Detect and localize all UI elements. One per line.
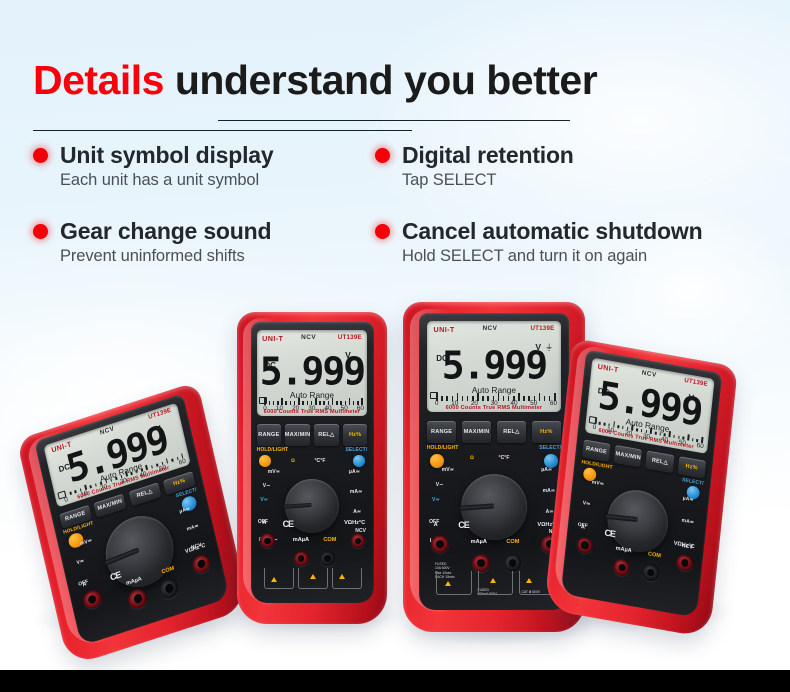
maxmin-button[interactable]: MAX/MIN: [462, 421, 492, 443]
feature-item-unit-symbol-display: Unit symbol display Each unit has a unit…: [33, 142, 273, 190]
input-jack-com[interactable]: [504, 554, 522, 572]
input-jack-a[interactable]: [82, 587, 104, 611]
jack-frame: [436, 571, 472, 595]
input-jack-vohm[interactable]: [676, 553, 694, 572]
dial-label-v-dc: V≃: [432, 497, 440, 503]
jack-label-com: COM: [161, 566, 175, 576]
device-face: UNI-T NCV UT139E DC 5.999 V Auto Range 0…: [251, 322, 374, 603]
feature-title: Unit symbol display: [60, 142, 273, 169]
dial-label-ohm: Ω: [470, 455, 474, 461]
feature-heading: Unit symbol display: [33, 142, 273, 169]
input-jack-a[interactable]: [431, 535, 449, 553]
jack-frame: [264, 568, 293, 589]
dial-pointer: [284, 503, 312, 509]
feature-subtitle: Prevent uninformed shifts: [60, 247, 271, 266]
lcd-footer-text: 6000 Counts True RMS Multimeter: [264, 409, 361, 415]
lcd-screen: UNI-T NCV UT139E DC 5.999 V ⏚ Auto Range…: [427, 321, 561, 412]
page-title-rest: understand you better: [164, 57, 597, 103]
dial-label-mv: mV≃: [442, 467, 454, 473]
jack-label-com: COM: [506, 539, 519, 545]
dial-label-ua: µA≃: [179, 506, 191, 515]
jack-label-a: A: [434, 522, 438, 528]
dial-label-v-ac: V∼: [263, 483, 271, 489]
divider-lower: [33, 130, 412, 131]
ce-mark: CE: [458, 520, 469, 530]
feature-item-digital-retention: Digital retention Tap SELECT: [375, 142, 574, 190]
ce-mark: CE: [604, 527, 615, 539]
button-sub-labels: HOLD/LIGHT SELECT/: [257, 447, 368, 453]
feature-title: Gear change sound: [60, 218, 271, 245]
feature-title: Cancel automatic shutdown: [402, 218, 702, 245]
lcd-footer-text: 6000 Counts True RMS Multimeter: [446, 405, 543, 411]
rel-button[interactable]: REL△: [314, 424, 338, 445]
input-jack-maua[interactable]: [613, 558, 631, 577]
dial-label-v-ac: V∼: [436, 482, 444, 488]
select-button[interactable]: [544, 454, 558, 468]
feature-item-gear-change-sound: Gear change sound Prevent uninformed shi…: [33, 218, 271, 266]
feature-subtitle: Each unit has a unit symbol: [60, 171, 273, 190]
feature-heading: Gear change sound: [33, 218, 271, 245]
button-row: RANGE MAX/MIN REL△ Hz%: [427, 421, 561, 443]
dial-label-ua: µA≃: [541, 467, 552, 473]
dial-label-mv: mV≃: [268, 469, 280, 475]
dial-label-temp: °C°F: [314, 458, 325, 464]
lcd-model-label: UT139E: [684, 377, 708, 388]
lcd-screen: UNI-T NCV UT139E DC 5.999 V Auto Range 0…: [585, 358, 715, 454]
jack-label-com: COM: [648, 551, 661, 559]
dial-label-a: A≃: [353, 509, 361, 515]
select-button[interactable]: [353, 455, 365, 467]
jack-label-maua: mAµA: [615, 545, 632, 554]
hold-light-button[interactable]: [430, 454, 444, 468]
jack-frame: [332, 568, 361, 589]
jack-label-com: COM: [323, 537, 336, 543]
jack-label-a: A: [262, 520, 266, 526]
dial-label-ohm: Ω: [291, 458, 295, 464]
input-jack-a[interactable]: [260, 533, 275, 548]
hz-percent-button[interactable]: Hz%: [343, 424, 367, 445]
input-jack-maua[interactable]: [127, 587, 149, 611]
jack-label-maua: mAµA: [126, 576, 143, 587]
hold-light-label: HOLD/LIGHT: [257, 447, 289, 453]
ce-mark: CE: [109, 570, 121, 583]
dial-label-ma: mA≃: [186, 523, 199, 533]
range-button[interactable]: RANGE: [257, 424, 281, 445]
hz-percent-button[interactable]: Hz%: [532, 421, 562, 443]
dial-label-ma: mA≃: [543, 488, 556, 494]
lcd-brand-label: UNI-T: [434, 325, 455, 334]
dial-label-ua: µA≃: [349, 469, 360, 475]
lcd-tick: 60: [696, 442, 704, 450]
feature-item-cancel-automatic-shutdown: Cancel automatic shutdown Hold SELECT an…: [375, 218, 702, 266]
page-title: Details understand you better: [33, 57, 597, 104]
ce-mark: CE: [283, 519, 294, 529]
lcd-brand-label: UNI-T: [262, 334, 283, 343]
lcd-model-label: UT139E: [338, 334, 362, 341]
multimeter-right: UNI-T NCV UT139E DC 5.999 V Auto Range 0…: [544, 338, 738, 638]
dial-pointer: [460, 503, 494, 511]
feature-subtitle: Tap SELECT: [402, 171, 574, 190]
lcd-tick: 60: [178, 458, 186, 467]
lcd-tick: 0: [64, 496, 69, 504]
button-sub-labels: HOLD/LIGHT SELECT/: [427, 445, 561, 451]
lcd-tick: 0: [435, 400, 439, 407]
button-row: RANGE MAX/MIN REL△ Hz%: [257, 424, 368, 445]
lcd-unit-main: V: [688, 392, 695, 403]
jack-label-a: A: [581, 525, 586, 532]
maxmin-button[interactable]: MAX/MIN: [285, 424, 309, 445]
device-face: UNI-T NCV UT139E DC 5.999 V ⏚ Auto Range…: [419, 313, 568, 610]
input-jack-com[interactable]: [320, 551, 335, 566]
input-jack-com[interactable]: [642, 563, 660, 582]
feature-list: Unit symbol display Each unit has a unit…: [0, 142, 790, 277]
hold-light-button[interactable]: [259, 455, 271, 467]
feature-title: Digital retention: [402, 142, 574, 169]
jack-label-vohm: VΩHz°C: [344, 520, 365, 526]
lcd-unit-main: V: [535, 342, 541, 352]
bullet-icon: [33, 148, 48, 163]
lcd-tick: 60: [550, 400, 557, 407]
feature-heading: Digital retention: [375, 142, 574, 169]
divider-upper: [218, 120, 570, 121]
jack-label-maua: mAµA: [293, 537, 309, 543]
bottom-black-bar: [0, 670, 790, 692]
feature-heading: Cancel automatic shutdown: [375, 218, 702, 245]
select-label: SELECT/: [539, 445, 561, 451]
hold-light-label: HOLD/LIGHT: [427, 445, 459, 451]
dial-label-a: A≃: [546, 509, 554, 515]
range-button[interactable]: RANGE: [427, 421, 457, 443]
lcd-unit-main: V: [345, 350, 351, 360]
bullet-icon: [375, 148, 390, 163]
jack-plate: A CE mAµA COM VΩHz°C FUSED10A 600VMax 10…: [425, 519, 562, 605]
input-jack-maua[interactable]: [294, 551, 309, 566]
lcd-ncv-indicator: NCV: [641, 369, 657, 379]
dial-label-mv: mV≃: [592, 479, 605, 487]
lcd-model-label: UT139E: [531, 325, 555, 332]
product-feature-page: Details understand you better Unit symbo…: [0, 0, 790, 692]
device-face: UNI-T NCV UT139E DC 5.999 V Auto Range 0…: [561, 349, 722, 617]
dial-label-ua: µA≃: [682, 495, 693, 503]
dial-label-v-dc: V≃: [260, 497, 268, 503]
lcd-screen: UNI-T NCV UT139E DC 5.999 V Auto Range 0…: [257, 330, 368, 416]
lcd-ncv-indicator: NCV: [482, 325, 497, 332]
feature-subtitle: Hold SELECT and turn it on again: [402, 247, 702, 266]
dial-label-v-dc: V≃: [582, 500, 590, 507]
input-jack-a[interactable]: [576, 535, 594, 554]
jack-label-vohm: VΩHz°C: [673, 541, 694, 551]
multimeter-mid: UNI-T NCV UT139E DC 5.999 V Auto Range 0…: [237, 312, 387, 624]
dial-label-temp: °C°F: [498, 455, 509, 461]
dial-label-ma: mA≃: [681, 518, 694, 526]
bullet-icon: [375, 224, 390, 239]
input-jack-vohm[interactable]: [351, 533, 366, 548]
jack-frame: [298, 568, 327, 589]
input-jack-maua[interactable]: [472, 554, 490, 572]
jack-plate: A CE mAµA COM VΩHz°C: [255, 517, 368, 598]
page-title-accent: Details: [33, 57, 164, 103]
lcd-ncv-indicator: NCV: [301, 334, 316, 341]
lcd-unit-secondary: ⏚: [545, 342, 553, 353]
dial-label-ma: mA≃: [350, 489, 363, 495]
dial-pointer: [606, 514, 637, 522]
select-label: SELECT/: [346, 447, 368, 453]
lcd-reading: 5.999: [442, 346, 546, 384]
lcd-tick: 0: [592, 424, 596, 432]
dial-label-v-dc: V≃: [76, 558, 85, 566]
bullet-icon: [33, 224, 48, 239]
jack-frame: [478, 571, 514, 595]
rel-button[interactable]: REL△: [497, 421, 527, 443]
jack-label-a: A: [82, 582, 87, 589]
input-jack-vohm[interactable]: [191, 552, 213, 576]
input-jack-com[interactable]: [158, 577, 180, 601]
jack-label-maua: mAµA: [471, 539, 487, 545]
